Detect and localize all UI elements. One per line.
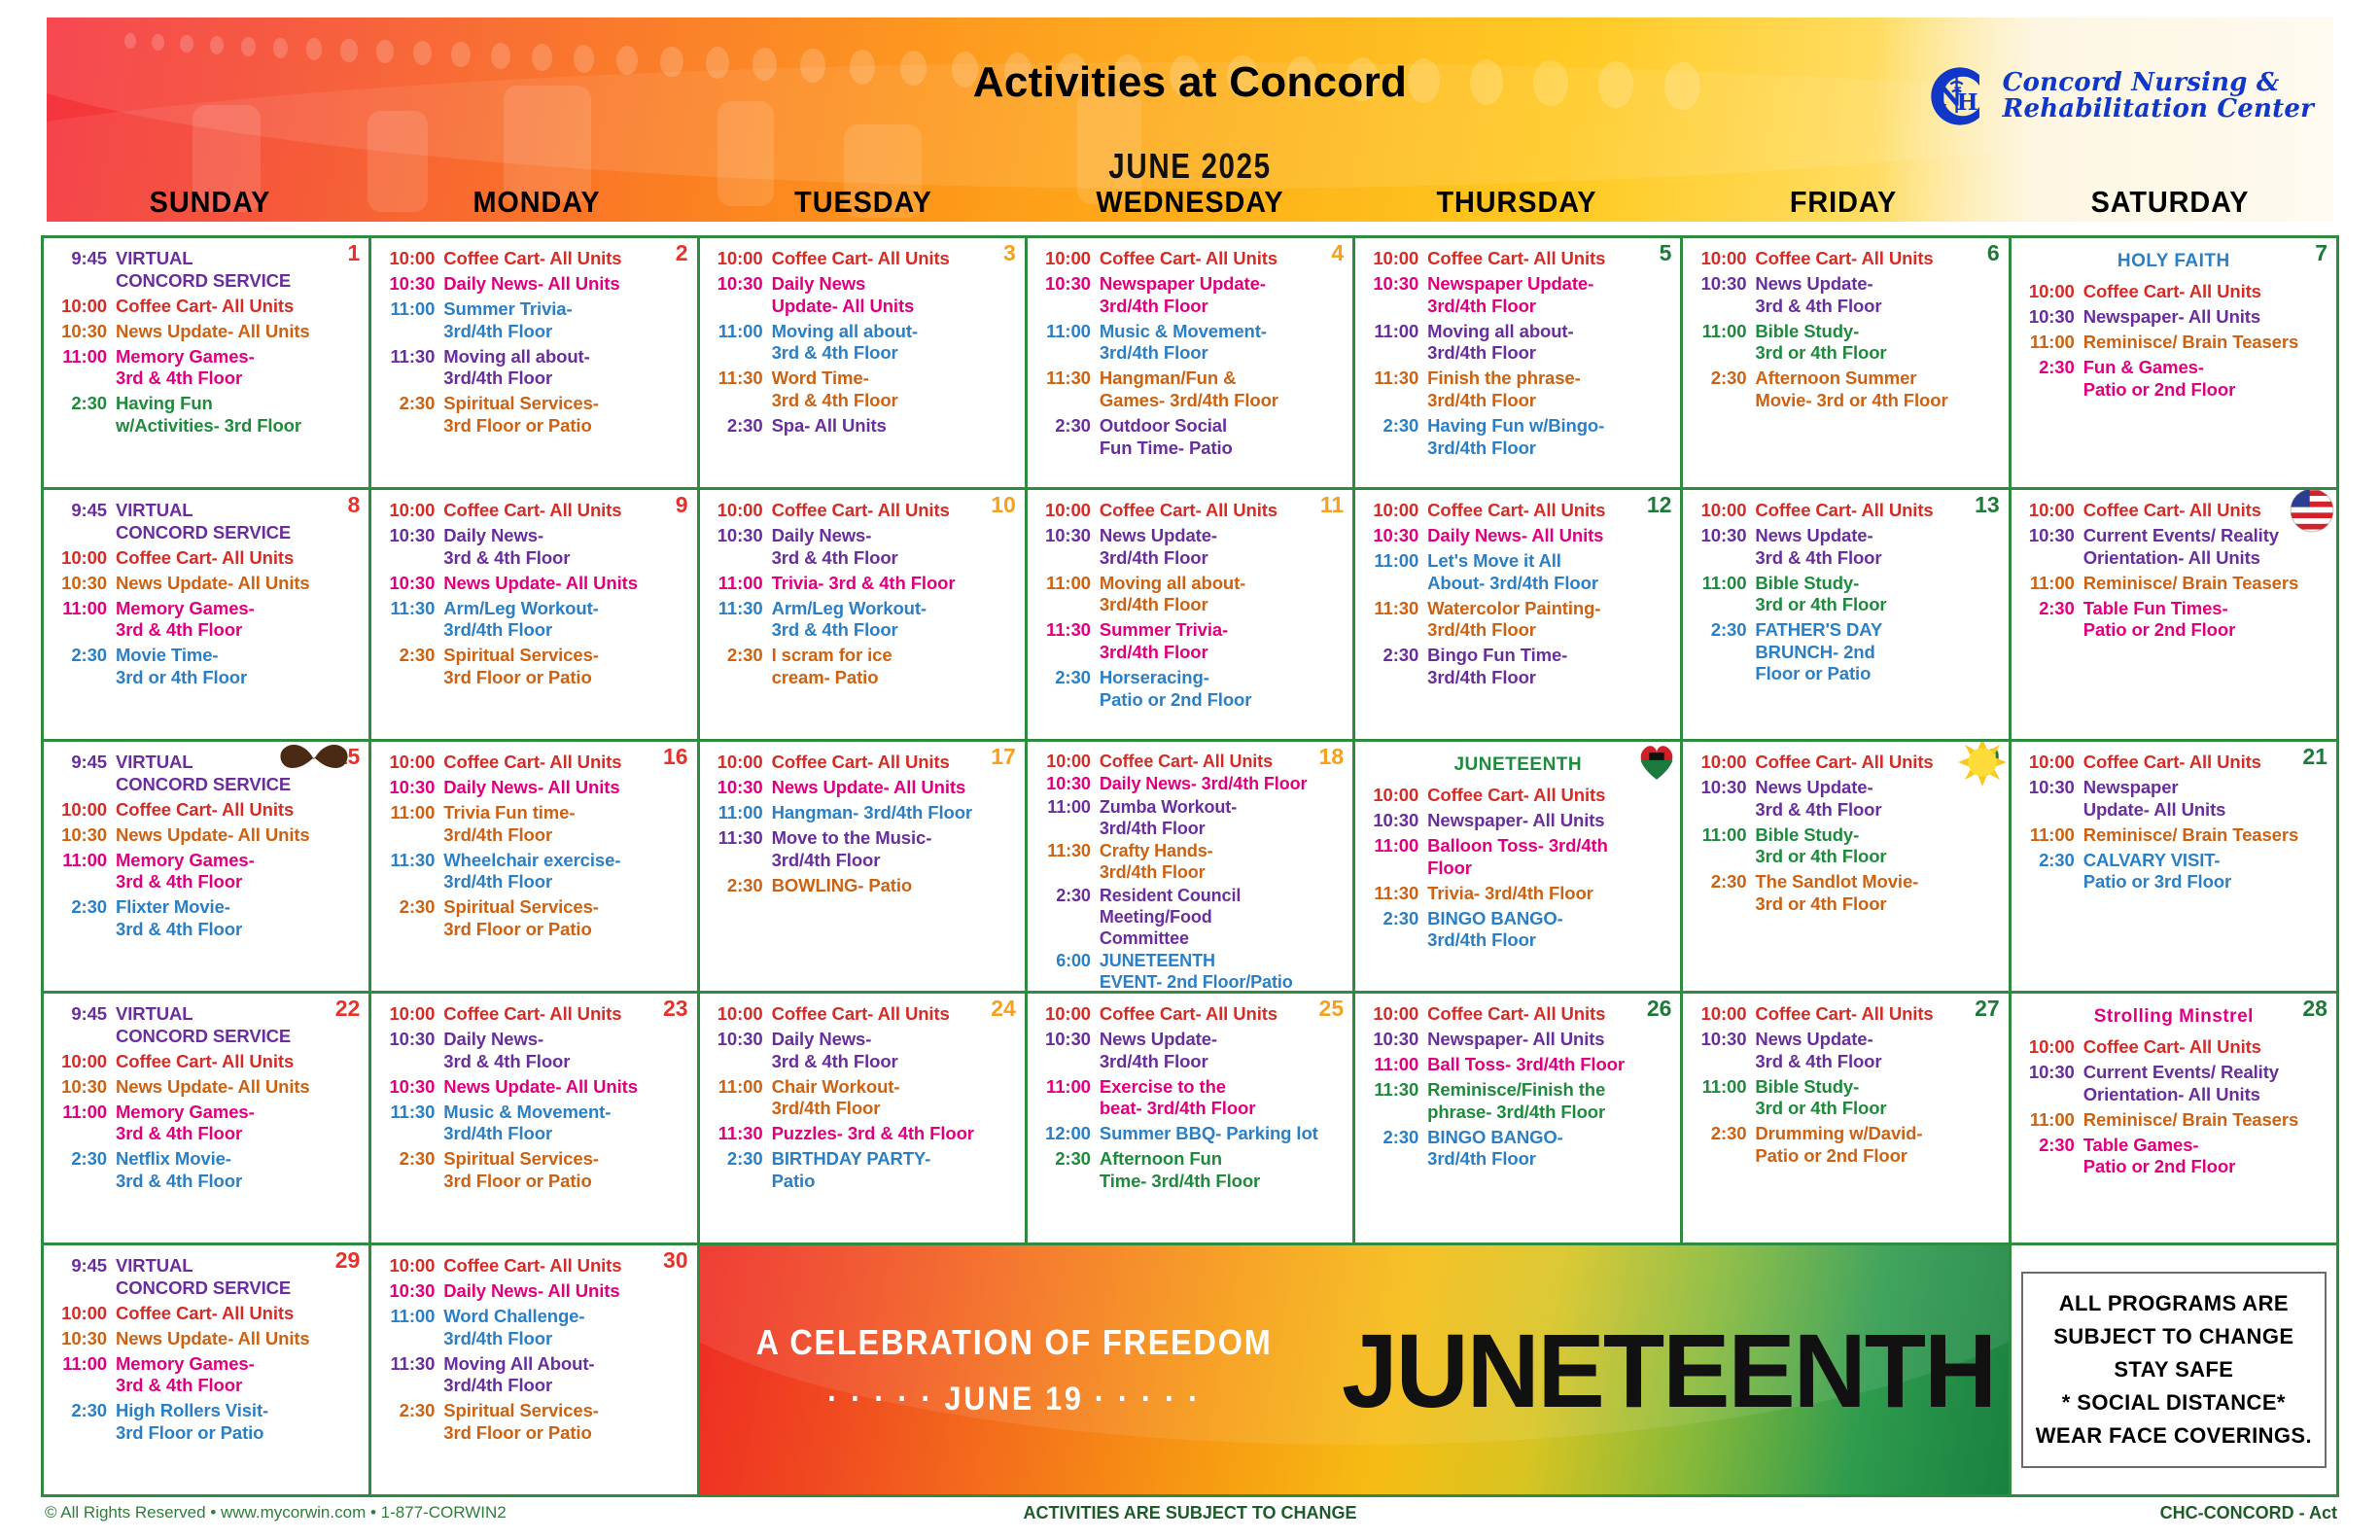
activity-description: Coffee Cart- All Units — [443, 752, 688, 774]
notice-line: * SOCIAL DISTANCE* — [2062, 1386, 2286, 1419]
juneteenth-wordmark: JUNETEENTH — [1342, 1310, 1995, 1431]
activity-description: Moving all about-3rd/4th Floor — [1100, 573, 1345, 616]
day-number: 29 — [335, 1247, 361, 1274]
activity-time: 11:00 — [1691, 573, 1755, 595]
activity-time: 11:00 — [52, 850, 116, 872]
calendar-day-cell[interactable]: 299:45VIRTUALCONCORD SERVICE10:00Coffee … — [44, 1245, 368, 1494]
activity-time: 10:00 — [52, 1303, 116, 1325]
activity-entry: 10:30News Update- All Units — [379, 1076, 688, 1099]
activity-time: 10:30 — [379, 573, 443, 595]
activity-time: 10:00 — [379, 248, 443, 270]
activity-time: 10:00 — [708, 752, 772, 774]
calendar-day-cell[interactable]: 19JUNETEENTH10:00Coffee Cart- All Units1… — [1355, 742, 1680, 991]
activity-entry: 10:00Coffee Cart- All Units — [52, 547, 361, 570]
calendar-day-cell[interactable]: 310:00Coffee Cart- All Units10:30Daily N… — [700, 238, 1025, 487]
calendar-day-cell[interactable]: 1110:00Coffee Cart- All Units10:30News U… — [1028, 490, 1352, 739]
activity-description: Table Games-Patio or 2nd Floor — [2083, 1135, 2328, 1178]
calendar-day-cell[interactable]: 89:45VIRTUALCONCORD SERVICE10:00Coffee C… — [44, 490, 368, 739]
activity-time: 2:30 — [2019, 357, 2083, 379]
day-number: 3 — [1003, 240, 1016, 266]
calendar-day-cell[interactable]: 7HOLY FAITH10:00Coffee Cart- All Units10… — [2012, 238, 2336, 487]
activity-entry: 2:30I scram for icecream- Patio — [708, 645, 1017, 688]
activity-entry: 10:30Daily News- All Units — [1363, 525, 1672, 547]
activity-description: NewspaperUpdate- All Units — [2083, 777, 2328, 821]
activity-entry: 11:30Trivia- 3rd/4th Floor — [1363, 883, 1672, 905]
activity-entry: 11:30Crafty Hands-3rd/4th Floor — [1035, 841, 1345, 884]
activity-description: Coffee Cart- All Units — [1100, 752, 1345, 773]
calendar-day-cell[interactable]: 2010:00Coffee Cart- All Units10:30News U… — [1683, 742, 2008, 991]
activity-description: VIRTUALCONCORD SERVICE — [116, 500, 361, 543]
activity-time: 2:30 — [379, 393, 443, 415]
activity-time: 10:30 — [1035, 525, 1100, 547]
activity-description: News Update- All Units — [116, 824, 361, 847]
activity-time: 2:30 — [1035, 667, 1100, 689]
calendar-day-cell[interactable]: 229:45VIRTUALCONCORD SERVICE10:00Coffee … — [44, 994, 368, 1242]
activity-time: 2:30 — [379, 1148, 443, 1171]
day-special-title: Strolling Minstrel — [2019, 1006, 2328, 1028]
activity-time: 11:00 — [52, 1102, 116, 1124]
calendar-day-cell[interactable]: 1610:00Coffee Cart- All Units10:30Daily … — [371, 742, 696, 991]
activity-description: Daily News- 3rd/4th Floor — [1100, 774, 1345, 795]
activity-description: Newspaper Update-3rd/4th Floor — [1100, 273, 1345, 317]
activity-entry: 10:00Coffee Cart- All Units — [379, 248, 688, 270]
juneteenth-banner-text: A CELEBRATION OF FREEDOM· · · · · JUNE 1… — [700, 1322, 1328, 1418]
activity-time: 10:30 — [1035, 273, 1100, 296]
activity-time: 2:30 — [2019, 1135, 2083, 1157]
activity-description: Coffee Cart- All Units — [116, 1051, 361, 1073]
calendar-day-cell[interactable]: 159:45VIRTUALCONCORD SERVICE10:00Coffee … — [44, 742, 368, 991]
activity-time: 10:30 — [379, 273, 443, 296]
activity-time: 10:00 — [1035, 1003, 1100, 1026]
calendar-day-cell[interactable]: 2610:00Coffee Cart- All Units10:30Newspa… — [1355, 994, 1680, 1242]
activity-time: 11:00 — [52, 346, 116, 368]
calendar-day-cell[interactable]: 910:00Coffee Cart- All Units10:30Daily N… — [371, 490, 696, 739]
activity-description: BINGO BANGO-3rd/4th Floor — [1427, 1127, 1672, 1171]
activity-time: 2:30 — [379, 1400, 443, 1422]
activity-description: Memory Games-3rd & 4th Floor — [116, 598, 361, 642]
activity-description: Daily News-3rd & 4th Floor — [443, 525, 688, 569]
activity-time: 11:30 — [708, 827, 772, 850]
calendar-day-cell[interactable]: 19:45VIRTUALCONCORD SERVICE10:00Coffee C… — [44, 238, 368, 487]
activity-time: 10:30 — [2019, 525, 2083, 547]
activity-entry: 11:00Moving all about-3rd & 4th Floor — [708, 321, 1017, 365]
activity-entry: 11:00Trivia- 3rd & 4th Floor — [708, 573, 1017, 595]
activity-time: 2:30 — [52, 896, 116, 919]
footer-code: CHC-CONCORD - Act — [2160, 1503, 2337, 1523]
activity-description: Daily NewsUpdate- All Units — [772, 273, 1017, 317]
activity-description: News Update- All Units — [116, 573, 361, 595]
activity-time: 10:30 — [2019, 1062, 2083, 1084]
day-number: 28 — [2302, 996, 2327, 1022]
activity-entry: 10:30Daily News- 3rd/4th Floor — [1035, 774, 1345, 795]
activity-entry: 2:30Fun & Games-Patio or 2nd Floor — [2019, 357, 2328, 401]
activity-description: Summer BBQ- Parking lot — [1100, 1123, 1345, 1145]
activity-time: 10:30 — [2019, 306, 2083, 329]
calendar-day-cell[interactable]: 3010:00Coffee Cart- All Units10:30Daily … — [371, 1245, 696, 1494]
activity-time: 6:00 — [1035, 951, 1100, 972]
activity-time: 11:00 — [379, 802, 443, 824]
activity-entry: 2:30Flixter Movie-3rd & 4th Floor — [52, 896, 361, 940]
activity-entry: 11:00Memory Games-3rd & 4th Floor — [52, 346, 361, 390]
calendar-day-cell[interactable]: 510:00Coffee Cart- All Units10:30Newspap… — [1355, 238, 1680, 487]
activity-description: Table Fun Times-Patio or 2nd Floor — [2083, 598, 2328, 642]
calendar-day-cell[interactable]: 2410:00Coffee Cart- All Units10:30Daily … — [700, 994, 1025, 1242]
calendar-day-cell[interactable]: 610:00Coffee Cart- All Units10:30News Up… — [1683, 238, 2008, 487]
activity-entry: 11:00Bible Study-3rd or 4th Floor — [1691, 1076, 2000, 1120]
activity-time: 11:30 — [708, 598, 772, 620]
activity-description: Arm/Leg Workout-3rd & 4th Floor — [772, 598, 1017, 642]
activity-description: Flixter Movie-3rd & 4th Floor — [116, 896, 361, 940]
calendar-day-cell[interactable]: 2710:00Coffee Cart- All Units10:30News U… — [1683, 994, 2008, 1242]
activity-time: 11:00 — [379, 1306, 443, 1328]
activity-time: 11:30 — [379, 346, 443, 368]
juneteenth-date: · · · · · JUNE 19 · · · · · — [731, 1381, 1297, 1418]
activity-entry: 11:30Moving All About-3rd/4th Floor — [379, 1353, 688, 1397]
activity-description: Coffee Cart- All Units — [2083, 281, 2328, 303]
activity-time: 2:30 — [1363, 645, 1427, 667]
activity-entry: 11:30Move to the Music-3rd/4th Floor — [708, 827, 1017, 871]
activity-time: 11:00 — [1363, 1054, 1427, 1076]
activity-description: Coffee Cart- All Units — [772, 248, 1017, 270]
activity-entry: 10:30Daily News-3rd & 4th Floor — [379, 1029, 688, 1072]
activity-entry: 11:00Reminisce/ Brain Teasers — [2019, 332, 2328, 354]
activity-entry: 11:00Let's Move it AllAbout- 3rd/4th Flo… — [1363, 550, 1672, 594]
month-year-label: JUNE 2025 — [253, 146, 2128, 187]
activity-time: 11:30 — [1363, 883, 1427, 905]
day-number: 4 — [1331, 240, 1344, 266]
activity-entry: 2:30Afternoon FunTime- 3rd/4th Floor — [1035, 1148, 1345, 1192]
activity-time: 10:00 — [1691, 1003, 1755, 1026]
activity-entry: 2:30CALVARY VISIT-Patio or 3rd Floor — [2019, 850, 2328, 893]
activity-description: Coffee Cart- All Units — [443, 1255, 688, 1277]
mustache-icon — [277, 742, 351, 777]
activity-description: News Update-3rd & 4th Floor — [1755, 273, 2000, 317]
activity-entry: 2:30The Sandlot Movie-3rd or 4th Floor — [1691, 871, 2000, 915]
activity-entry: 2:30BINGO BANGO-3rd/4th Floor — [1363, 908, 1672, 952]
activity-entry: 10:00Coffee Cart- All Units — [2019, 752, 2328, 774]
activity-entry: 2:30Spiritual Services-3rd Floor or Pati… — [379, 645, 688, 688]
activity-time: 10:30 — [1363, 1029, 1427, 1051]
day-number: 30 — [663, 1247, 688, 1274]
activity-entry: 10:00Coffee Cart- All Units — [52, 1051, 361, 1073]
activity-description: Coffee Cart- All Units — [443, 1003, 688, 1026]
activity-entry: 10:00Coffee Cart- All Units — [1035, 1003, 1345, 1026]
activity-entry: 10:30News Update-3rd/4th Floor — [1035, 1029, 1345, 1072]
activity-entry: 9:45VIRTUALCONCORD SERVICE — [52, 1255, 361, 1299]
activity-entry: 9:45VIRTUALCONCORD SERVICE — [52, 1003, 361, 1047]
activity-entry: 2:30Afternoon SummerMovie- 3rd or 4th Fl… — [1691, 367, 2000, 411]
activity-time: 12:00 — [1035, 1123, 1100, 1145]
notice-line: SUBJECT TO CHANGE — [2053, 1320, 2293, 1353]
activity-time: 11:00 — [2019, 332, 2083, 354]
activity-entry: 11:30Puzzles- 3rd & 4th Floor — [708, 1123, 1017, 1145]
activity-time: 11:00 — [708, 1076, 772, 1099]
footer-notice: ACTIVITIES ARE SUBJECT TO CHANGE — [0, 1503, 2380, 1523]
activity-entry: 10:30News Update- All Units — [52, 1328, 361, 1350]
day-number: 8 — [347, 492, 360, 518]
activity-time: 2:30 — [708, 1148, 772, 1171]
activity-entry: 2:30Horseracing-Patio or 2nd Floor — [1035, 667, 1345, 711]
activity-description: Puzzles- 3rd & 4th Floor — [772, 1123, 1017, 1145]
activity-description: VIRTUALCONCORD SERVICE — [116, 248, 361, 292]
activity-entry: 11:00Exercise to thebeat- 3rd/4th Floor — [1035, 1076, 1345, 1120]
activity-description: News Update-3rd/4th Floor — [1100, 525, 1345, 569]
activity-time: 11:00 — [1363, 835, 1427, 857]
activity-entry: 11:00Moving all about-3rd/4th Floor — [1035, 573, 1345, 616]
activity-description: BOWLING- Patio — [772, 875, 1017, 897]
activity-time: 11:00 — [2019, 573, 2083, 595]
activity-entry: 2:30High Rollers Visit-3rd Floor or Pati… — [52, 1400, 361, 1444]
activity-description: Spiritual Services-3rd Floor or Patio — [443, 896, 688, 940]
activity-description: Daily News-3rd & 4th Floor — [443, 1029, 688, 1072]
calendar-day-cell[interactable]: 1410:00Coffee Cart- All Units10:30Curren… — [2012, 490, 2336, 739]
activity-description: Coffee Cart- All Units — [772, 752, 1017, 774]
day-number: 24 — [991, 996, 1016, 1022]
activity-entry: 11:00Reminisce/ Brain Teasers — [2019, 1109, 2328, 1132]
concord-logo: N H Concord Nursing & Rehabilitation Cen… — [1917, 58, 2314, 134]
activity-entry: 10:30News Update- All Units — [708, 777, 1017, 799]
activity-description: Having Fun w/Bingo-3rd/4th Floor — [1427, 415, 1672, 459]
activity-entry: 11:00Bible Study-3rd or 4th Floor — [1691, 573, 2000, 616]
activity-entry: 10:00Coffee Cart- All Units — [52, 799, 361, 822]
activity-time: 10:00 — [2019, 1036, 2083, 1059]
activity-description: Move to the Music-3rd/4th Floor — [772, 827, 1017, 871]
juneteenth-banner: A CELEBRATION OF FREEDOM· · · · · JUNE 1… — [700, 1245, 2009, 1494]
activity-entry: 10:30Current Events/ RealityOrientation-… — [2019, 525, 2328, 569]
activity-description: Trivia- 3rd & 4th Floor — [772, 573, 1017, 595]
calendar-day-cell[interactable]: 28Strolling Minstrel10:00Coffee Cart- Al… — [2012, 994, 2336, 1242]
activity-entry: 10:00Coffee Cart- All Units — [1363, 1003, 1672, 1026]
activity-entry: 10:00Coffee Cart- All Units — [1035, 500, 1345, 522]
activity-description: News Update-3rd & 4th Floor — [1755, 525, 2000, 569]
day-number: 17 — [991, 744, 1016, 770]
activity-description: BINGO BANGO-3rd/4th Floor — [1427, 908, 1672, 952]
activity-description: Coffee Cart- All Units — [1427, 1003, 1672, 1026]
weekday-label-wednesday: WEDNESDAY — [1038, 185, 1342, 231]
activity-description: News Update- All Units — [443, 1076, 688, 1099]
activity-description: News Update-3rd & 4th Floor — [1755, 1029, 2000, 1072]
activity-description: Coffee Cart- All Units — [1427, 248, 1672, 270]
activity-time: 10:30 — [1035, 774, 1100, 795]
activity-time: 11:00 — [1363, 550, 1427, 573]
calendar-day-cell[interactable]: 410:00Coffee Cart- All Units10:30Newspap… — [1028, 238, 1352, 487]
activity-entry: 10:30News Update- All Units — [379, 573, 688, 595]
activity-description: News Update- All Units — [116, 321, 361, 343]
activity-description: Bible Study-3rd or 4th Floor — [1755, 1076, 2000, 1120]
activity-time: 10:00 — [379, 500, 443, 522]
activity-entry: 11:00Memory Games-3rd & 4th Floor — [52, 598, 361, 642]
activity-time: 11:30 — [379, 1353, 443, 1376]
activity-time: 9:45 — [52, 500, 116, 522]
activity-entry: 10:00Coffee Cart- All Units — [1691, 500, 2000, 522]
day-number: 7 — [2315, 240, 2327, 266]
activity-time: 10:00 — [1363, 1003, 1427, 1026]
juneteenth-heart-icon — [1635, 742, 1678, 783]
activity-entry: 10:00Coffee Cart- All Units — [379, 1003, 688, 1026]
activity-description: News Update-3rd/4th Floor — [1100, 1029, 1345, 1072]
activity-description: Memory Games-3rd & 4th Floor — [116, 346, 361, 390]
activity-time: 2:30 — [1363, 908, 1427, 930]
activity-time: 10:00 — [708, 500, 772, 522]
activity-time: 2:30 — [1691, 619, 1755, 642]
activity-time: 2:30 — [1363, 415, 1427, 437]
activity-description: Word Time-3rd & 4th Floor — [772, 367, 1017, 411]
us-flag-icon — [2290, 490, 2334, 533]
activity-description: Daily News- All Units — [443, 273, 688, 296]
day-number: 9 — [676, 492, 688, 518]
activity-description: Newspaper- All Units — [1427, 1029, 1672, 1051]
activity-time: 11:30 — [379, 598, 443, 620]
activity-time: 11:00 — [1035, 321, 1100, 343]
activity-time: 11:30 — [1035, 367, 1100, 390]
activity-entry: 11:00Bible Study-3rd or 4th Floor — [1691, 321, 2000, 365]
activity-description: Music & Movement-3rd/4th Floor — [1100, 321, 1345, 365]
activity-description: Coffee Cart- All Units — [116, 296, 361, 318]
activity-time: 2:30 — [708, 875, 772, 897]
activity-time: 11:30 — [1363, 598, 1427, 620]
activity-time: 10:00 — [52, 799, 116, 822]
activity-entry: 2:30Spiritual Services-3rd Floor or Pati… — [379, 1400, 688, 1444]
calendar-day-cell[interactable]: 2110:00Coffee Cart- All Units10:30Newspa… — [2012, 742, 2336, 991]
activity-entry: 2:30Netflix Movie-3rd & 4th Floor — [52, 1148, 361, 1192]
svg-text:H: H — [1956, 88, 1977, 116]
activity-description: Coffee Cart- All Units — [2083, 752, 2328, 774]
day-number: 10 — [991, 492, 1016, 518]
activity-entry: 11:30Arm/Leg Workout-3rd/4th Floor — [379, 598, 688, 642]
activity-entry: 10:30News Update-3rd/4th Floor — [1035, 525, 1345, 569]
activity-entry: 10:00Coffee Cart- All Units — [379, 752, 688, 774]
activity-description: Current Events/ RealityOrientation- All … — [2083, 1062, 2328, 1105]
activity-description: Afternoon FunTime- 3rd/4th Floor — [1100, 1148, 1345, 1192]
activity-entry: 2:30Spiritual Services-3rd Floor or Pati… — [379, 896, 688, 940]
activity-entry: 11:30Finish the phrase-3rd/4th Floor — [1363, 367, 1672, 411]
activity-time: 10:30 — [2019, 777, 2083, 799]
activity-description: VIRTUALCONCORD SERVICE — [116, 1003, 361, 1047]
activity-time: 10:30 — [1691, 273, 1755, 296]
activity-description: Drumming w/David-Patio or 2nd Floor — [1755, 1123, 2000, 1167]
activity-description: Reminisce/ Brain Teasers — [2083, 332, 2328, 354]
activity-time: 9:45 — [52, 752, 116, 774]
activity-entry: 10:00Coffee Cart- All Units — [1691, 752, 2000, 774]
activity-description: Zumba Workout-3rd/4th Floor — [1100, 797, 1345, 840]
programs-notice-box: ALL PROGRAMS ARESUBJECT TO CHANGESTAY SA… — [2012, 1245, 2336, 1494]
activity-entry: 6:00JUNETEENTHEVENT- 2nd Floor/Patio — [1035, 951, 1345, 991]
day-number: 11 — [1320, 492, 1344, 518]
activity-description: Hangman/Fun &Games- 3rd/4th Floor — [1100, 367, 1345, 411]
activity-entry: 11:30Music & Movement-3rd/4th Floor — [379, 1102, 688, 1145]
calendar-day-cell[interactable]: 1010:00Coffee Cart- All Units10:30Daily … — [700, 490, 1025, 739]
activity-description: JUNETEENTHEVENT- 2nd Floor/Patio — [1100, 951, 1345, 991]
activity-description: I scram for icecream- Patio — [772, 645, 1017, 688]
weekday-label-friday: FRIDAY — [1692, 185, 1995, 231]
activity-description: Arm/Leg Workout-3rd/4th Floor — [443, 598, 688, 642]
activity-entry: 10:30NewspaperUpdate- All Units — [2019, 777, 2328, 821]
activity-time: 10:30 — [52, 321, 116, 343]
calendar-day-cell[interactable]: 210:00Coffee Cart- All Units10:30Daily N… — [371, 238, 696, 487]
activity-description: News Update- All Units — [116, 1328, 361, 1350]
activity-description: Having Funw/Activities- 3rd Floor — [116, 393, 361, 437]
calendar-day-cell[interactable]: 2510:00Coffee Cart- All Units10:30News U… — [1028, 994, 1352, 1242]
activity-entry: 2:30Spiritual Services-3rd Floor or Pati… — [379, 1148, 688, 1192]
activity-description: Chair Workout-3rd/4th Floor — [772, 1076, 1017, 1120]
calendar-page: Activities at Concord JUNE 2025 N H Conc… — [0, 0, 2380, 1540]
activity-entry: 11:00Reminisce/ Brain Teasers — [2019, 824, 2328, 847]
calendar-day-cell[interactable]: 1810:00Coffee Cart- All Units10:30Daily … — [1028, 742, 1352, 991]
activity-entry: 2:30Movie Time-3rd or 4th Floor — [52, 645, 361, 688]
activity-entry: 2:30Spa- All Units — [708, 415, 1017, 437]
activity-description: Daily News- All Units — [443, 1280, 688, 1303]
activity-time: 11:00 — [1691, 321, 1755, 343]
calendar-day-cell[interactable]: 2310:00Coffee Cart- All Units10:30Daily … — [371, 994, 696, 1242]
activity-description: Memory Games-3rd & 4th Floor — [116, 1102, 361, 1145]
activity-description: Wheelchair exercise-3rd/4th Floor — [443, 850, 688, 893]
activity-description: Summer Trivia-3rd/4th Floor — [1100, 619, 1345, 663]
activity-entry: 11:30Reminisce/Finish thephrase- 3rd/4th… — [1363, 1079, 1672, 1123]
activity-time: 10:00 — [1691, 500, 1755, 522]
activity-time: 10:00 — [1691, 248, 1755, 270]
activity-description: Coffee Cart- All Units — [443, 248, 688, 270]
activity-time: 10:00 — [1035, 752, 1100, 773]
activity-description: VIRTUALCONCORD SERVICE — [116, 1255, 361, 1299]
activity-description: Reminisce/ Brain Teasers — [2083, 1109, 2328, 1132]
activity-time: 10:00 — [1035, 248, 1100, 270]
activity-entry: 10:00Coffee Cart- All Units — [52, 1303, 361, 1325]
day-special-title: JUNETEENTH — [1363, 754, 1672, 776]
activity-description: Finish the phrase-3rd/4th Floor — [1427, 367, 1672, 411]
activity-entry: 11:00Memory Games-3rd & 4th Floor — [52, 1102, 361, 1145]
activity-time: 2:30 — [1035, 415, 1100, 437]
day-number: 12 — [1647, 492, 1672, 518]
activity-time: 2:30 — [52, 393, 116, 415]
activity-entry: 10:30News Update- All Units — [52, 573, 361, 595]
activity-time: 11:00 — [708, 321, 772, 343]
activity-entry: 11:00Hangman- 3rd/4th Floor — [708, 802, 1017, 824]
activity-entry: 11:00Zumba Workout-3rd/4th Floor — [1035, 797, 1345, 840]
activity-time: 11:00 — [1363, 321, 1427, 343]
activity-time: 10:30 — [52, 824, 116, 847]
activity-description: Ball Toss- 3rd/4th Floor — [1427, 1054, 1672, 1076]
day-special-title: HOLY FAITH — [2019, 251, 2328, 272]
calendar-day-cell[interactable]: 1310:00Coffee Cart- All Units10:30News U… — [1683, 490, 2008, 739]
sun-icon — [1958, 742, 2007, 787]
day-number: 21 — [2302, 744, 2327, 770]
activity-time: 9:45 — [52, 1003, 116, 1026]
activity-entry: 11:00Moving all about-3rd/4th Floor — [1363, 321, 1672, 365]
activity-time: 2:30 — [52, 1400, 116, 1422]
activity-entry: 9:45VIRTUALCONCORD SERVICE — [52, 248, 361, 292]
activity-entry: 11:30Arm/Leg Workout-3rd & 4th Floor — [708, 598, 1017, 642]
activity-description: Resident CouncilMeeting/FoodCommittee — [1100, 886, 1345, 950]
activity-description: Coffee Cart- All Units — [1427, 785, 1672, 807]
activity-time: 10:30 — [1691, 777, 1755, 799]
activity-description: Coffee Cart- All Units — [1755, 500, 2000, 522]
calendar-day-cell[interactable]: 1210:00Coffee Cart- All Units10:30Daily … — [1355, 490, 1680, 739]
activity-time: 10:30 — [379, 1029, 443, 1051]
activity-time: 10:30 — [52, 1076, 116, 1099]
activity-time: 2:30 — [1691, 1123, 1755, 1145]
day-number: 26 — [1647, 996, 1672, 1022]
activity-description: Daily News-3rd & 4th Floor — [772, 1029, 1017, 1072]
activity-time: 11:00 — [2019, 1109, 2083, 1132]
activity-description: Reminisce/Finish thephrase- 3rd/4th Floo… — [1427, 1079, 1672, 1123]
activity-time: 10:00 — [1035, 500, 1100, 522]
calendar-day-cell[interactable]: 1710:00Coffee Cart- All Units10:30News U… — [700, 742, 1025, 991]
activity-entry: 10:30News Update-3rd & 4th Floor — [1691, 273, 2000, 317]
activity-time: 10:30 — [1035, 1029, 1100, 1051]
activity-time: 10:00 — [708, 248, 772, 270]
activity-entry: 11:00Word Challenge-3rd/4th Floor — [379, 1306, 688, 1349]
activity-entry: 10:30Current Events/ RealityOrientation-… — [2019, 1062, 2328, 1105]
